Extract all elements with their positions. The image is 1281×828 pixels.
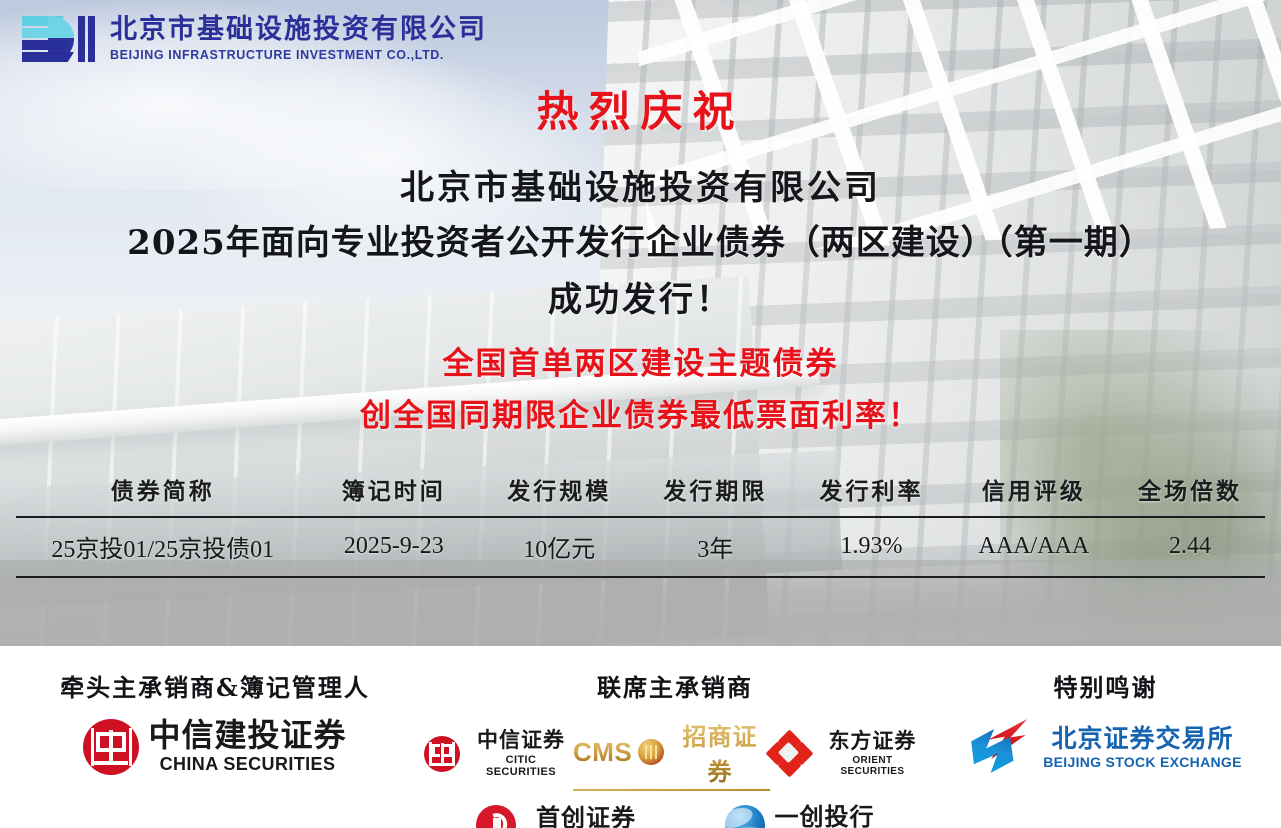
capital-securities-logo: 首创证券 CAPITAL SECURITIES (476, 805, 648, 828)
lead-underwriter-title: 牵头主承销商&簿记管理人 (0, 646, 430, 703)
table-header-row: 债券简称 簿记时间 发行规模 发行期限 发行利率 信用评级 全场倍数 (16, 466, 1265, 517)
joint-underwriters-row-1: 中信证券 CITIC SECURITIES CMS 招商证券 (420, 717, 930, 791)
fcib-name-cn: 一创投行 (774, 805, 874, 828)
bse-name-cn: 北京证券交易所 (1043, 726, 1242, 751)
highlight-line-2: 创全国同期限企业债券最低票面利率！ (0, 390, 1281, 435)
orient-securities-name-en: ORIENT SECURITIES (819, 755, 926, 777)
title-line-1: 北京市基础设施投资有限公司 (0, 160, 1281, 209)
cms-securities-logo: CMS 招商证券 (573, 717, 770, 791)
cms-abbreviation: CMS (573, 737, 632, 768)
special-thanks-column: 特别鸣谢 北京证券交易所 BEIJING STOCK EXCHANGE (930, 646, 1281, 777)
column-header-subscription-multiple: 全场倍数 (1115, 466, 1265, 517)
citic-securities-name-cn: 中信证券 (469, 730, 573, 751)
citic-roundel-icon (83, 719, 139, 775)
cms-securities-name-cn: 招商证券 (670, 717, 770, 787)
column-header-book-date: 簿记时间 (310, 466, 479, 517)
highlight-line-1: 全国首单两区建设主题债券 (0, 338, 1281, 383)
capital-securities-name-cn: 首创证券 (525, 806, 648, 828)
cell-tenor: 3年 (640, 517, 790, 577)
citic-securities-logo: 中信证券 CITIC SECURITIES (424, 730, 573, 777)
company-name-cn: 北京市基础设施投资有限公司 (110, 16, 487, 44)
footer-underwriters: 牵头主承销商&簿记管理人 中信建投证券 (0, 646, 1281, 828)
orient-securities-name-cn: 东方证券 (819, 731, 926, 752)
cell-bond-name: 25京投01/25京投债01 (16, 517, 310, 577)
cell-issue-size: 10亿元 (478, 517, 640, 577)
china-securities-logo: 中信建投证券 CHINA SECURITIES (0, 719, 430, 775)
bse-name-en: BEIJING STOCK EXCHANGE (1043, 754, 1242, 770)
orient-diamond-icon (770, 734, 810, 774)
column-header-bond-name: 债券简称 (16, 466, 310, 517)
bond-details-table: 债券简称 簿记时间 发行规模 发行期限 发行利率 信用评级 全场倍数 25京投0… (16, 466, 1265, 578)
orient-securities-logo: 东方证券 ORIENT SECURITIES (770, 731, 926, 776)
cms-underline (573, 789, 770, 791)
column-header-credit-rating: 信用评级 (953, 466, 1115, 517)
joint-underwriters-column: 联席主承销商 (420, 646, 930, 828)
bii-logo-icon (22, 14, 94, 64)
table-row: 25京投01/25京投债01 2025-9-23 10亿元 3年 1.93% A… (16, 517, 1265, 577)
cell-subscription-multiple: 2.44 (1115, 517, 1265, 577)
joint-underwriters-title: 联席主承销商 (420, 646, 930, 703)
cell-book-date: 2025-9-23 (310, 517, 479, 577)
lead-underwriter-column: 牵头主承销商&簿记管理人 中信建投证券 (0, 646, 430, 775)
company-name-en: BEIJING INFRASTRUCTURE INVESTMENT CO.,LT… (110, 48, 487, 62)
bond-issuance-celebration-poster: 北京市基础设施投资有限公司 BEIJING INFRASTRUCTURE INV… (0, 0, 1281, 828)
cell-coupon-rate: 1.93% (790, 517, 952, 577)
china-securities-name-en: CHINA SECURITIES (148, 754, 346, 775)
citic-roundel-icon (424, 736, 460, 772)
column-header-tenor: 发行期限 (640, 466, 790, 517)
cell-credit-rating: AAA/AAA (953, 517, 1115, 577)
bse-bolt-icon (969, 719, 1031, 777)
column-header-coupon-rate: 发行利率 (790, 466, 952, 517)
title-line-3: 成功发行！ (0, 272, 1281, 321)
celebrate-heading: 热烈庆祝 (0, 78, 1281, 139)
beijing-stock-exchange-logo: 北京证券交易所 BEIJING STOCK EXCHANGE (930, 719, 1281, 777)
fcib-logo: 一创投行 — F C I B — (725, 805, 874, 828)
special-thanks-title: 特别鸣谢 (930, 646, 1281, 703)
title-line-2: 2025年面向专业投资者公开发行企业债券（两区建设）（第一期） (0, 215, 1281, 264)
company-logo-block: 北京市基础设施投资有限公司 BEIJING INFRASTRUCTURE INV… (22, 14, 487, 64)
cms-coin-icon (638, 739, 664, 765)
china-securities-name-cn: 中信建投证券 (148, 719, 346, 752)
column-header-issue-size: 发行规模 (478, 466, 640, 517)
fcib-globe-icon (725, 805, 765, 828)
citic-securities-name-en: CITIC SECURITIES (469, 754, 573, 778)
capital-s-icon (476, 805, 516, 828)
joint-underwriters-row-2: 首创证券 CAPITAL SECURITIES 一创投行 — F C I B — (420, 805, 930, 828)
